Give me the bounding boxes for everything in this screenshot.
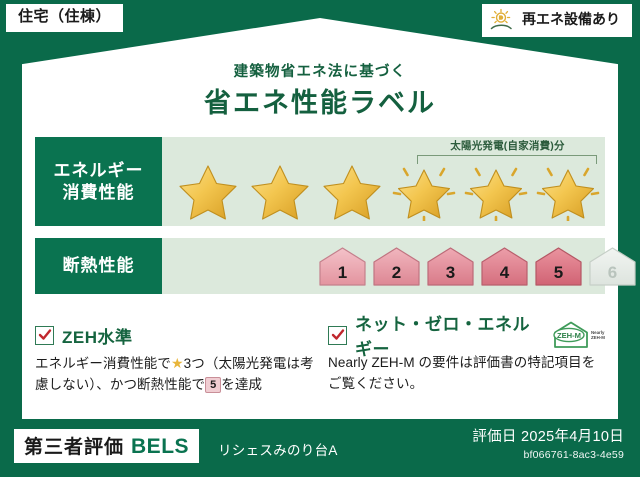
check-icon <box>331 328 345 342</box>
insulation-level-3-value: 3 <box>446 263 455 288</box>
star-icon-solar-5 <box>462 161 530 221</box>
renewable-equipment-label: 再エネ設備あり <box>522 12 620 27</box>
evaluation-id: bf066761-8ac3-4e59 <box>472 449 624 461</box>
nzeb-criterion-header: ネット・ゼロ・エネルギー ZEH-M Nearly ZEH-M <box>328 322 607 348</box>
insulation-level-3: 3 <box>425 245 476 288</box>
energy-label-line2: 消費性能 <box>63 182 135 204</box>
svg-text:ZEH-M: ZEH-M <box>557 331 581 340</box>
insulation-level-6-value: 6 <box>608 263 617 288</box>
insulation-level-2-value: 2 <box>392 263 401 288</box>
zeh-m-logo-icon: ZEH-M Nearly ZEH-M <box>551 320 607 350</box>
zeh-body-part1: エネルギー消費性能で <box>35 356 171 371</box>
bels-en-label: BELS <box>131 435 189 459</box>
zeh-body-part3: を達成 <box>221 377 262 392</box>
star-icon-3 <box>318 161 386 221</box>
insulation-level-5: 5 <box>533 245 584 288</box>
insulation-level-scale: 1 2 <box>162 238 605 294</box>
star-icon-1 <box>174 161 242 221</box>
star-icon-solar-6 <box>534 161 602 221</box>
energy-performance-label: 住宅（住棟） 再エネ設備あり 建築物省エネ法に基づく 省エネ性能 <box>0 0 640 477</box>
zeh-criterion-body: エネルギー消費性能で★3つ（太陽光発電は考慮しない）、かつ断熱性能で5を達成 <box>35 353 314 396</box>
bels-jp-label: 第三者評価 <box>24 432 124 459</box>
insulation-level-6: 6 <box>587 245 638 288</box>
nzeb-criterion: ネット・ゼロ・エネルギー ZEH-M Nearly ZEH-M Nearly Z… <box>328 322 607 404</box>
nzeb-criterion-body: Nearly ZEH-M の要件は評価書の特記項目をご覧ください。 <box>328 353 607 395</box>
zeh-insulation-badge: 5 <box>205 377 221 393</box>
zeh-criterion-header: ZEH水準 <box>35 322 314 348</box>
label-title: 省エネ性能ラベル <box>0 81 640 120</box>
star-icon-solar-4 <box>390 161 458 221</box>
zeh-criterion-title: ZEH水準 <box>62 323 133 348</box>
check-icon <box>38 328 52 342</box>
zeh-checkbox[interactable] <box>35 326 54 345</box>
insulation-label: 断熱性能 <box>63 255 135 277</box>
inline-star-icon: ★ <box>171 355 184 371</box>
energy-performance-panel: 太陽光発電(自家消費)分 <box>162 137 605 226</box>
nzeb-checkbox[interactable] <box>328 326 347 345</box>
label-footer: 第三者評価 BELS リシェスみのり台A 評価日 2025年4月10日 bf06… <box>0 419 640 477</box>
energy-star-rating <box>162 137 605 226</box>
insulation-level-4: 4 <box>479 245 530 288</box>
insulation-performance-row: 断熱性能 1 <box>35 238 605 294</box>
insulation-level-2: 2 <box>371 245 422 288</box>
energy-performance-row: エネルギー 消費性能 太陽光発電(自家消費)分 <box>35 137 605 226</box>
bels-certification-box: 第三者評価 BELS <box>14 429 199 463</box>
zeh-criterion: ZEH水準 エネルギー消費性能で★3つ（太陽光発電は考慮しない）、かつ断熱性能で… <box>35 322 314 404</box>
evaluation-date: 評価日 2025年4月10日 <box>472 425 624 446</box>
energy-performance-label-box: エネルギー 消費性能 <box>35 137 162 226</box>
insulation-performance-panel: 1 2 <box>162 238 605 294</box>
building-name: リシェスみのり台A <box>218 439 338 459</box>
insulation-performance-label-box: 断熱性能 <box>35 238 162 294</box>
renewable-equipment-badge: 再エネ設備あり <box>482 4 632 37</box>
insulation-level-5-value: 5 <box>554 263 563 288</box>
svg-text:ZEH-M: ZEH-M <box>591 335 605 340</box>
sun-renewable-icon <box>490 8 516 32</box>
housing-type-badge: 住宅（住棟） <box>6 4 123 32</box>
insulation-level-4-value: 4 <box>500 263 509 288</box>
insulation-level-1: 1 <box>317 245 368 288</box>
criteria-section: ZEH水準 エネルギー消費性能で★3つ（太陽光発電は考慮しない）、かつ断熱性能で… <box>35 322 607 404</box>
energy-label-line1: エネルギー <box>54 160 144 182</box>
insulation-level-1-value: 1 <box>338 263 347 288</box>
label-subtitle: 建築物省エネ法に基づく <box>0 60 640 81</box>
housing-type-label: 住宅（住棟） <box>18 8 111 25</box>
star-icon-2 <box>246 161 314 221</box>
evaluation-info: 評価日 2025年4月10日 bf066761-8ac3-4e59 <box>472 425 624 461</box>
